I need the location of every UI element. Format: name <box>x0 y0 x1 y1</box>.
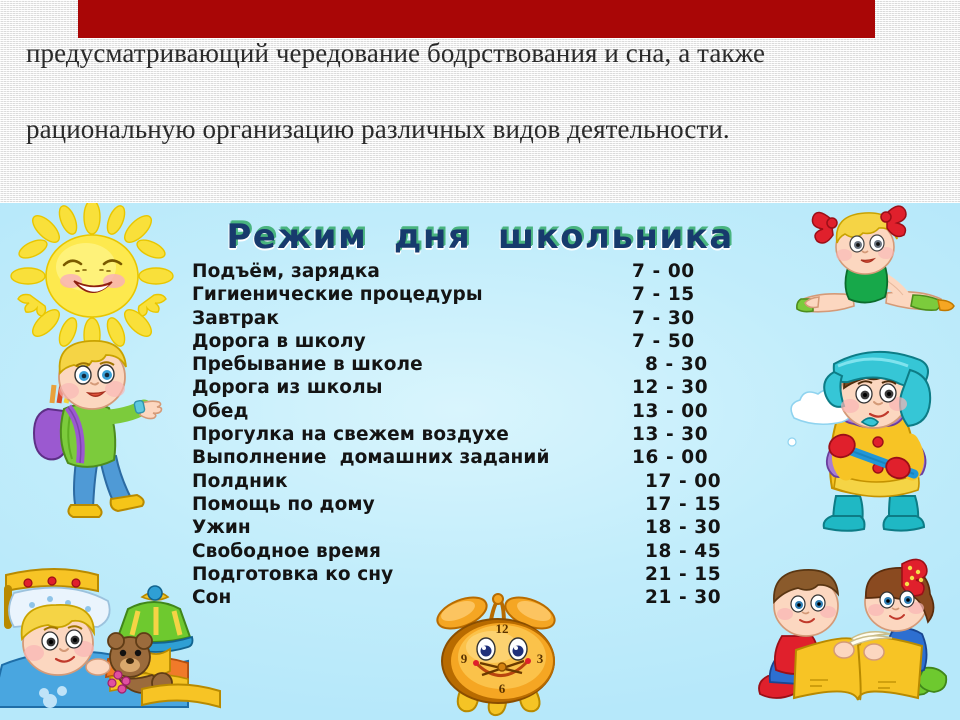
slide-root: предусматривающий чередование бодрствова… <box>0 0 960 720</box>
panel-title: Режим дня школьника <box>0 217 960 257</box>
schedule-time: 8 - 30 <box>632 354 795 375</box>
schedule-task: Дорога из школы <box>192 377 632 398</box>
schedule-row: Дорога из школы 12 - 30 <box>192 377 792 400</box>
schedule-time: 18 - 45 <box>632 541 795 562</box>
header-line-1: предусматривающий чередование бодрствова… <box>26 34 946 72</box>
schedule-time: 17 - 15 <box>632 494 795 515</box>
header-line-2: рациональную организацию различных видов… <box>26 110 946 148</box>
schedule-time: 7 - 00 <box>632 261 782 282</box>
schedule-row: Завтрак 7 - 30 <box>192 308 792 331</box>
schedule-row: Прогулка на свежем воздухе 13 - 30 <box>192 424 792 447</box>
schedule-task: Свободное время <box>192 541 632 562</box>
schedule-row: Полдник 17 - 00 <box>192 471 792 494</box>
schedule-row: Выполнение домашних заданий 16 - 00 <box>192 447 792 470</box>
schedule-row: Дорога в школу 7 - 50 <box>192 331 792 354</box>
schedule-task: Завтрак <box>192 308 632 329</box>
schedule-row: Ужин 18 - 30 <box>192 517 792 540</box>
schedule-time: 13 - 00 <box>632 401 782 422</box>
schedule-time: 21 - 30 <box>632 587 795 608</box>
schedule-task: Сон <box>192 587 632 608</box>
schedule-task: Полдник <box>192 471 632 492</box>
schedule-time: 16 - 00 <box>632 447 782 468</box>
schedule-row: Гигиенические процедуры 7 - 15 <box>192 284 792 307</box>
schedule-task: Пребывание в школе <box>192 354 632 375</box>
schedule-task: Обед <box>192 401 632 422</box>
schedule-time: 18 - 30 <box>632 517 795 538</box>
schedule-row: Подготовка ко сну 21 - 15 <box>192 564 792 587</box>
schedule-time: 12 - 30 <box>632 377 782 398</box>
header-paragraph: предусматривающий чередование бодрствова… <box>26 0 946 186</box>
schedule-panel: 12 3 6 9 Режим дня школьника Подъём, зар… <box>0 203 960 720</box>
schedule-time: 7 - 30 <box>632 308 782 329</box>
schedule-task: Выполнение домашних заданий <box>192 447 632 468</box>
schedule-task: Прогулка на свежем воздухе <box>192 424 632 445</box>
schedule-task: Дорога в школу <box>192 331 632 352</box>
schedule-row: Помощь по дому 17 - 15 <box>192 494 792 517</box>
schedule-task: Помощь по дому <box>192 494 632 515</box>
schedule-row: Свободное время 18 - 45 <box>192 541 792 564</box>
schedule-row: Подъём, зарядка 7 - 00 <box>192 261 792 284</box>
schedule-row: Пребывание в школе 8 - 30 <box>192 354 792 377</box>
schedule-time: 17 - 00 <box>632 471 795 492</box>
daily-schedule-list: Подъём, зарядка 7 - 00 Гигиенические про… <box>192 261 792 610</box>
schedule-row: Сон 21 - 30 <box>192 587 792 610</box>
schedule-task: Подготовка ко сну <box>192 564 632 585</box>
schedule-time: 13 - 30 <box>632 424 782 445</box>
schedule-time: 7 - 15 <box>632 284 782 305</box>
schedule-task: Подъём, зарядка <box>192 261 632 282</box>
schedule-task: Ужин <box>192 517 632 538</box>
schedule-time: 21 - 15 <box>632 564 795 585</box>
schedule-time: 7 - 50 <box>632 331 782 352</box>
schedule-row: Обед 13 - 00 <box>192 401 792 424</box>
schedule-task: Гигиенические процедуры <box>192 284 632 305</box>
